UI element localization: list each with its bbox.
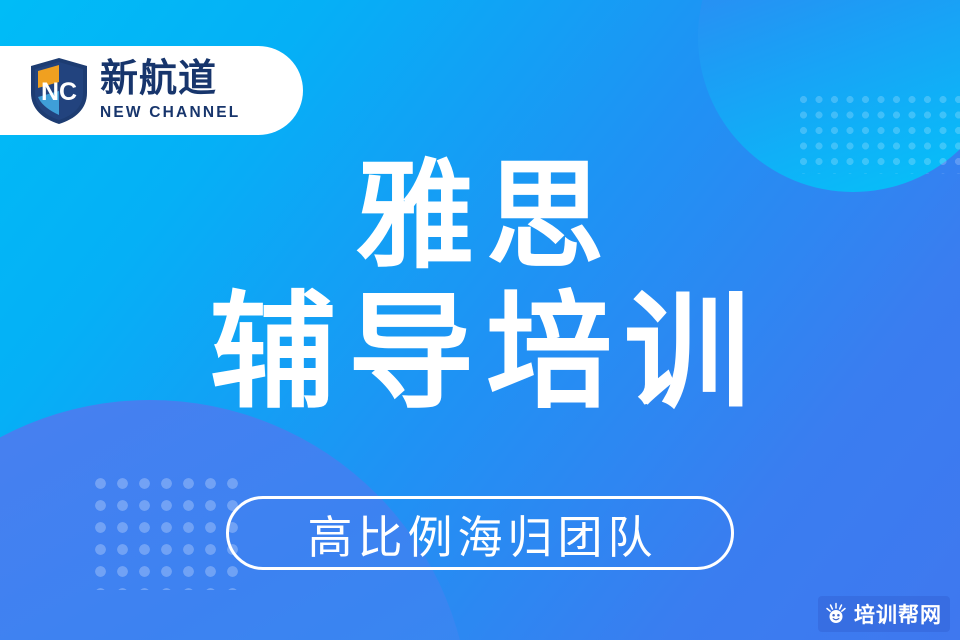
brand-text-block: 新航道 NEW CHANNEL — [100, 60, 240, 121]
watermark-text: 培训帮网 — [854, 599, 942, 629]
headline-line-1: 雅思 — [0, 148, 960, 287]
promo-banner: NC 新航道 NEW CHANNEL 雅思 辅导培训 高比例海归团队 — [0, 0, 960, 640]
sun-face-icon — [824, 602, 848, 626]
headline-line-2: 辅导培训 — [0, 279, 960, 428]
subtitle-text: 高比例海归团队 — [302, 501, 657, 566]
brand-name-cn: 新航道 — [100, 60, 240, 98]
dot-grid-bottom-left — [95, 478, 247, 590]
subtitle-pill: 高比例海归团队 — [226, 496, 734, 570]
nc-shield-icon: NC — [28, 57, 90, 125]
brand-name-en: NEW CHANNEL — [100, 105, 240, 121]
site-watermark: 培训帮网 — [818, 596, 950, 632]
brand-logo-panel[interactable]: NC 新航道 NEW CHANNEL — [0, 46, 303, 135]
headline-block: 雅思 辅导培训 — [0, 148, 960, 428]
svg-text:NC: NC — [41, 78, 77, 106]
